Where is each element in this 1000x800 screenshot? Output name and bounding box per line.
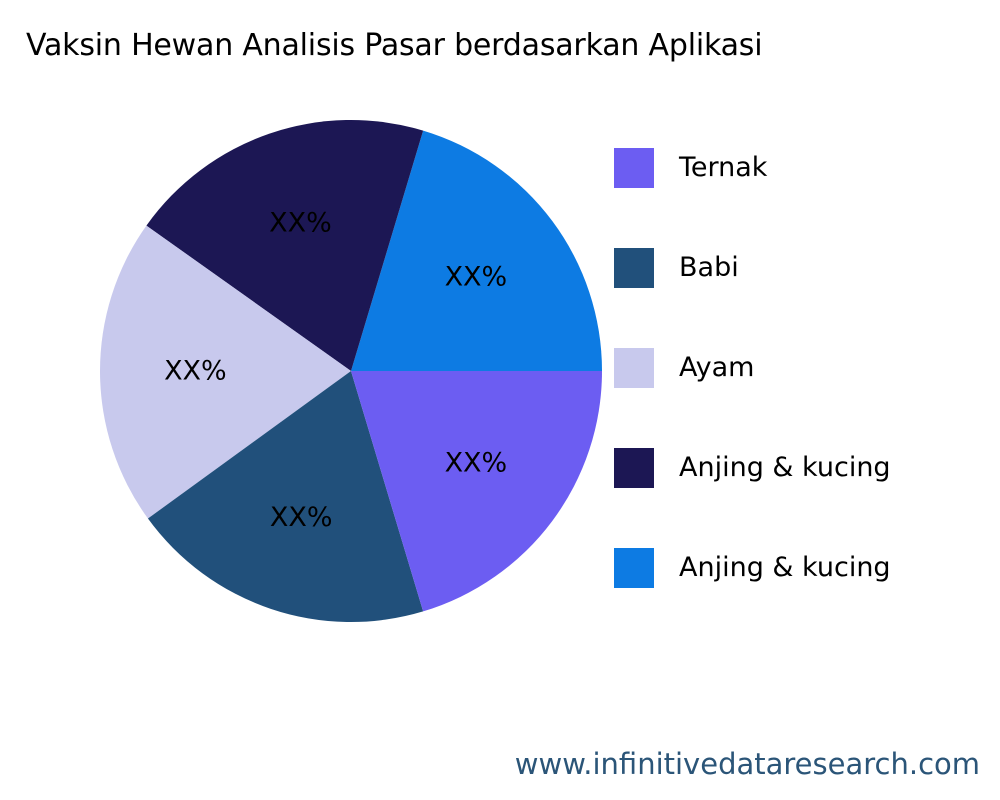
legend-item-label: Ayam [679,352,754,384]
legend-item[interactable]: Ternak [614,118,984,218]
legend-item-label: Babi [679,252,739,284]
chart-title: Vaksin Hewan Analisis Pasar berdasarkan … [26,26,956,66]
legend-color-swatch [614,548,654,588]
legend-item-label: Anjing & kucing [679,552,891,584]
pie-chart-figure: Vaksin Hewan Analisis Pasar berdasarkan … [0,0,1000,800]
pie-slice-label: XX% [270,502,333,533]
chart-legend: TernakBabiAyamAnjing & kucingAnjing & ku… [614,118,984,618]
pie-slice-label: XX% [445,447,508,478]
legend-item-label: Ternak [679,152,767,184]
legend-item[interactable]: Anjing & kucing [614,518,984,618]
legend-color-swatch [614,148,654,188]
legend-color-swatch [614,248,654,288]
legend-item[interactable]: Babi [614,218,984,318]
pie-slice-label: XX% [164,355,227,386]
legend-item-label: Anjing & kucing [679,452,891,484]
pie-slice-label: XX% [445,262,508,293]
pie-chart-plot-area: XX%XX%XX%XX%XX% [100,120,602,622]
pie-chart-svg: XX%XX%XX%XX%XX% [100,120,602,622]
pie-slice-label: XX% [269,207,332,238]
source-url: www.infinitivedataresearch.com [515,746,980,782]
legend-item[interactable]: Ayam [614,318,984,418]
legend-color-swatch [614,448,654,488]
legend-color-swatch [614,348,654,388]
legend-item[interactable]: Anjing & kucing [614,418,984,518]
